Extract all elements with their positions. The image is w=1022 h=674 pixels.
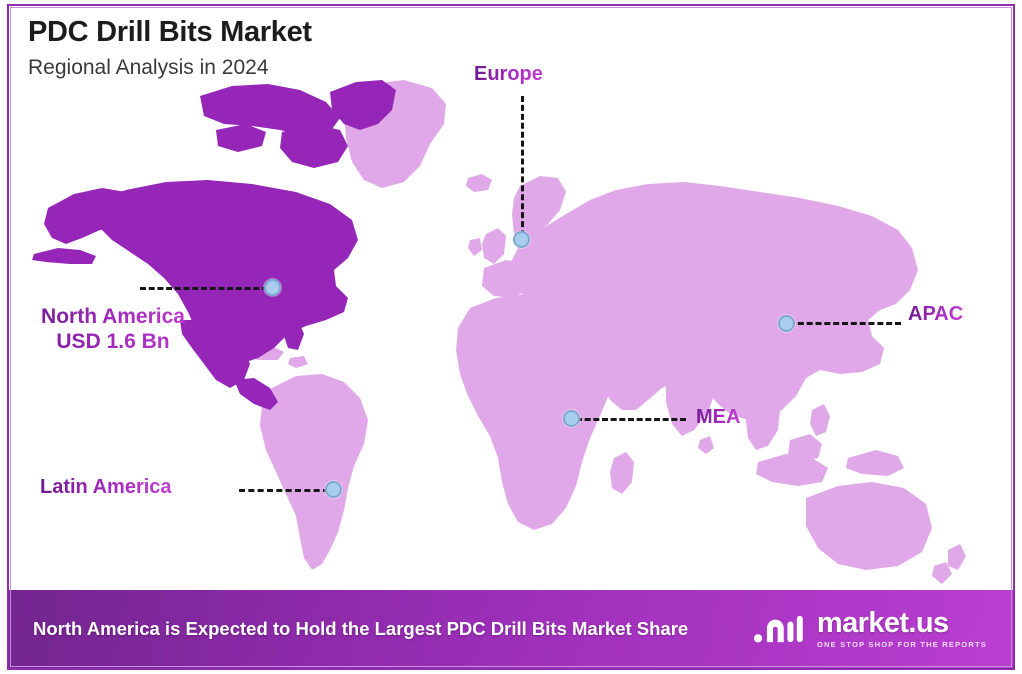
leader-line-latin-america xyxy=(239,489,329,492)
logo-wordmark: market.us xyxy=(817,609,987,638)
page-title: PDC Drill Bits Market xyxy=(28,16,312,49)
map-marker-mea[interactable] xyxy=(563,410,580,427)
map-marker-europe[interactable] xyxy=(513,231,530,248)
logo-mark-icon xyxy=(752,608,808,650)
callout-north-america-label: North America xyxy=(18,305,208,330)
callout-north-america-value: USD 1.6 Bn xyxy=(18,330,208,355)
ireland-shape xyxy=(468,238,482,256)
iceland-shape xyxy=(466,174,492,192)
header: PDC Drill Bits Market Regional Analysis … xyxy=(28,16,312,81)
infographic-canvas: PDC Drill Bits Market Regional Analysis … xyxy=(0,0,1022,674)
leader-line-europe xyxy=(521,96,524,236)
callout-europe-label: Europe xyxy=(474,63,543,87)
callout-mea-label: MEA xyxy=(696,406,740,430)
callout-latin-america: Latin America xyxy=(40,476,172,500)
callout-mea: MEA xyxy=(696,406,740,430)
africa-shape xyxy=(456,294,616,530)
hispaniola-shape xyxy=(288,356,308,368)
market-us-logo[interactable]: market.us ONE STOP SHOP FOR THE REPORTS xyxy=(752,608,987,650)
map-marker-latin-america[interactable] xyxy=(325,481,342,498)
indonesia-shape xyxy=(756,454,828,486)
callout-europe: Europe xyxy=(474,63,543,87)
callout-apac: APAC xyxy=(908,303,963,327)
callout-latin-america-label: Latin America xyxy=(40,476,172,500)
new-guinea-shape xyxy=(846,450,904,476)
leader-line-mea xyxy=(576,418,686,421)
baffin-island-shape xyxy=(280,124,348,168)
madagascar-shape xyxy=(610,452,634,494)
australia-shape xyxy=(806,482,932,570)
new-zealand-shape xyxy=(948,544,966,570)
sri-lanka-shape xyxy=(698,436,714,454)
philippines-shape xyxy=(810,404,830,436)
callout-north-america: North America USD 1.6 Bn xyxy=(18,305,208,355)
map-marker-north-america[interactable] xyxy=(264,279,281,296)
aleutian-islands-shape xyxy=(32,248,96,264)
leader-line-apac xyxy=(789,322,901,325)
leader-line-north-america xyxy=(140,287,268,290)
logo-tagline: ONE STOP SHOP FOR THE REPORTS xyxy=(817,641,987,649)
map-base-landmasses xyxy=(248,80,966,584)
british-isles-shape xyxy=(482,228,506,264)
banner-headline: North America is Expected to Hold the La… xyxy=(33,616,688,642)
bottom-banner: North America is Expected to Hold the La… xyxy=(9,590,1013,668)
victoria-island-shape xyxy=(216,124,266,152)
map-marker-apac[interactable] xyxy=(778,315,795,332)
callout-apac-label: APAC xyxy=(908,303,963,327)
map-highlight-north-america xyxy=(32,80,396,410)
page-subtitle: Regional Analysis in 2024 xyxy=(28,55,312,80)
central-america-shape xyxy=(234,378,278,410)
indochina-shape xyxy=(746,400,780,450)
